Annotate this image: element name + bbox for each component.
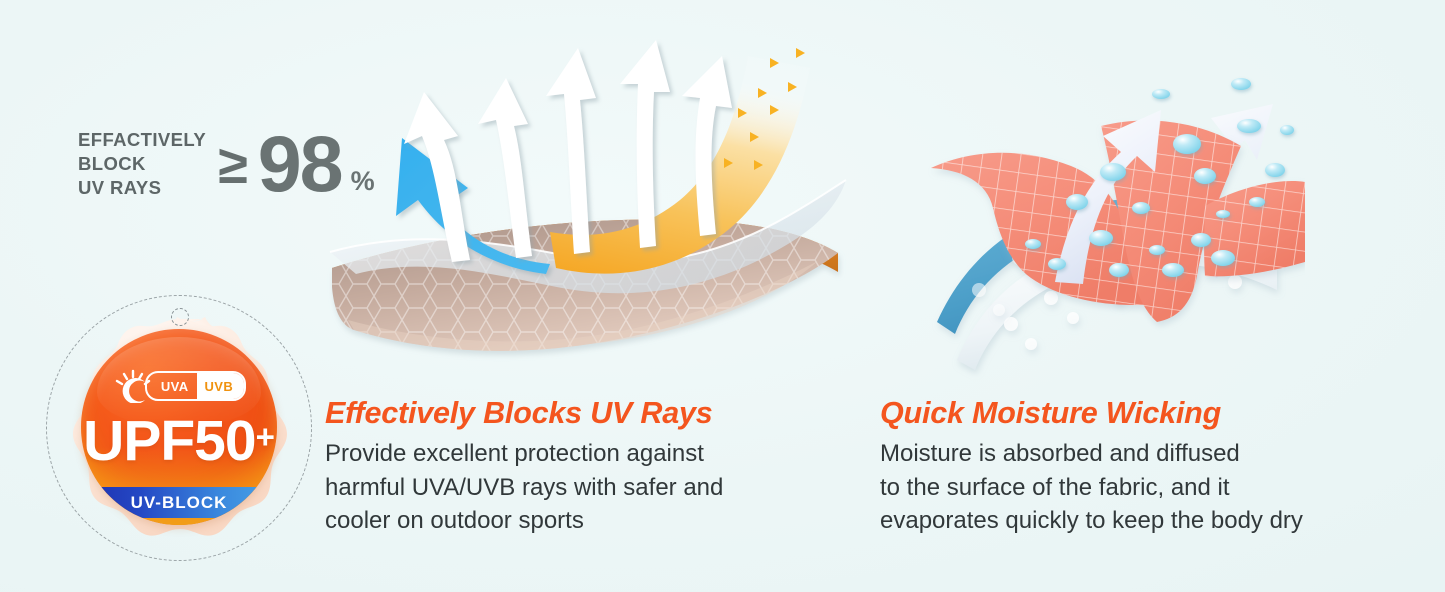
infographic-canvas: EFFACTIVELY BLOCK UV RAYS ≥ 98 %	[0, 0, 1445, 592]
greater-equal-symbol: ≥	[218, 144, 248, 187]
stat-label-line-1: EFFACTIVELY	[78, 128, 206, 152]
feature-desc-line-3: evaporates quickly to keep the body dry	[880, 504, 1410, 538]
uva-uvb-pill: UVA UVB	[145, 371, 246, 401]
uvb-label: UVB	[197, 373, 245, 399]
upf-rating-plus: +	[256, 418, 275, 455]
badge-hang-hole-icon	[171, 308, 189, 326]
uva-label: UVA	[147, 373, 197, 399]
uv-block-band-label: UV-BLOCK	[131, 493, 228, 513]
uv-blocking-fabric-illustration	[318, 20, 858, 390]
feature-desc-line-2: to the surface of the fabric, and it	[880, 471, 1410, 505]
upf-rating-value: UPF50	[83, 409, 255, 473]
feature-title: Quick Moisture Wicking	[880, 396, 1410, 430]
uv-block-stat-label: EFFACTIVELY BLOCK UV RAYS	[78, 128, 206, 200]
feature-desc-line-1: Moisture is absorbed and diffused	[880, 437, 1410, 471]
uv-block-band: UV-BLOCK	[81, 487, 277, 518]
feature-description: Provide excellent protection against har…	[325, 437, 845, 538]
badge-core: UVA UVB UPF50+ UV-BLOCK	[81, 329, 277, 525]
feature-desc-line-2: harmful UVA/UVB rays with safer and	[325, 471, 845, 505]
moisture-wicking-fabric-illustration	[905, 22, 1305, 392]
feature-description: Moisture is absorbed and diffused to the…	[880, 437, 1410, 538]
upf50-badge: UVA UVB UPF50+ UV-BLOCK	[46, 295, 312, 561]
feature-title: Effectively Blocks UV Rays	[325, 396, 845, 430]
stat-label-line-2: BLOCK	[78, 152, 206, 176]
feature-desc-line-3: cooler on outdoor sports	[325, 504, 845, 538]
feature-moisture-wicking: Quick Moisture Wicking Moisture is absor…	[880, 396, 1410, 538]
feature-desc-line-1: Provide excellent protection against	[325, 437, 845, 471]
coral-fabric-layer	[931, 120, 1305, 322]
upf-rating: UPF50+	[81, 413, 277, 470]
feature-uv-protection: Effectively Blocks UV Rays Provide excel…	[325, 396, 845, 538]
uv-ray-indicator: UVA UVB	[81, 369, 277, 403]
stat-label-line-3: UV RAYS	[78, 176, 206, 200]
